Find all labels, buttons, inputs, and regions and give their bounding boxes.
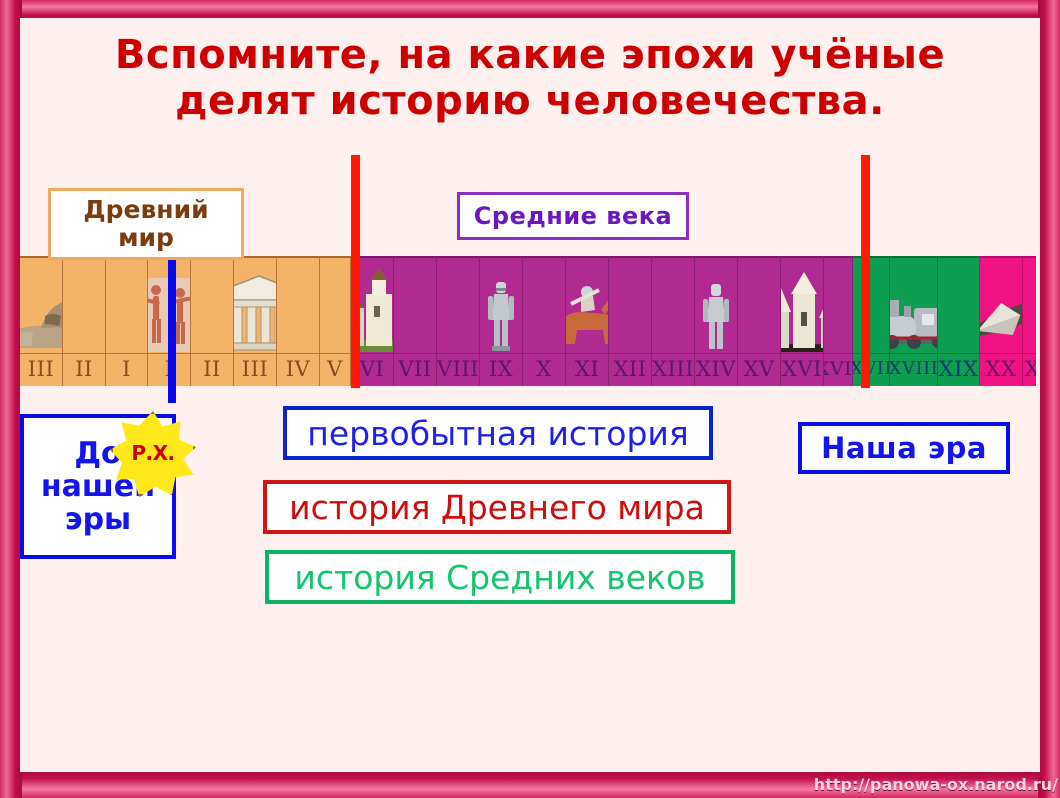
timeline-cell: XIII <box>652 256 695 386</box>
frame-left-band <box>0 0 22 798</box>
timeline-cell: VII <box>394 256 437 386</box>
sphinx-icon <box>20 286 63 352</box>
legend-ancient-history[interactable]: история Древнего мира <box>263 480 731 534</box>
timeline-segment-newest-time: XX XXI <box>980 256 1036 386</box>
star-badge-label: Р.Х. <box>110 411 196 497</box>
timeline-cell: XIX <box>938 256 980 386</box>
timeline-cell: I <box>106 256 148 386</box>
legend-middle-ages-history[interactable]: история Средних веков <box>265 550 735 604</box>
timeline-cell: XVI <box>781 256 824 386</box>
label-ancient-world[interactable]: Древний мир <box>48 188 244 260</box>
timeline-segment-ancient-bc: III II I <box>20 256 148 386</box>
greek-temple-icon <box>234 274 277 352</box>
timeline-cell: IV <box>277 256 320 386</box>
century-numeral: XV <box>743 354 774 386</box>
slide-root: Вспомните, на какие эпохи учёные делят и… <box>0 0 1060 798</box>
timeline-cell: XI <box>566 256 609 386</box>
label-bc-line-3: эры <box>65 502 131 537</box>
century-numeral: VI <box>360 354 384 386</box>
cathedral-icon <box>781 272 824 352</box>
birth-of-christ-badge[interactable]: Р.Х. <box>110 411 196 497</box>
title-line-2: делят историю человечества. <box>20 78 1040 124</box>
century-numeral: XIV <box>696 354 736 386</box>
frame-top-band <box>0 0 1060 20</box>
century-numeral: II <box>203 354 221 386</box>
knight-armour-icon <box>701 282 731 352</box>
century-numeral: I <box>122 354 131 386</box>
timeline-cell: II <box>63 256 106 386</box>
timeline-segment-middle-ages: VI VII VIII <box>351 256 853 386</box>
slide-canvas: Вспомните, на какие эпохи учёные делят и… <box>20 18 1040 772</box>
century-numeral: XVII <box>853 354 890 386</box>
timeline-cell: VIII <box>437 256 480 386</box>
timeline-cell: XVIII <box>890 256 938 386</box>
timeline-segment-ancient-ad: I II <box>148 256 351 386</box>
century-numeral: II <box>75 354 93 386</box>
century-numeral: IV <box>286 354 310 386</box>
century-numeral: X <box>536 354 551 386</box>
page-title: Вспомните, на какие эпохи учёные делят и… <box>20 32 1040 125</box>
timeline-cell: V <box>320 256 351 386</box>
label-our-era[interactable]: Наша эра <box>798 422 1010 474</box>
century-numeral: XI <box>575 354 599 386</box>
source-watermark: http://panowa-ox.narod.ru/ <box>814 775 1058 794</box>
timeline-cell: III <box>20 256 63 386</box>
frame-right-band <box>1038 0 1060 798</box>
century-numeral: XVIII <box>890 354 938 386</box>
timeline-cell: XIV <box>695 256 738 386</box>
label-ancient-world-line-1: Древний <box>83 195 208 224</box>
century-numeral: III <box>242 354 268 386</box>
timeline-cell: XVII <box>853 256 890 386</box>
century-numeral: XII <box>613 354 646 386</box>
century-numeral: IX <box>489 354 513 386</box>
timeline-cell: XXI <box>1023 256 1036 386</box>
timeline-cell: II <box>191 256 234 386</box>
century-numeral: XX <box>986 354 1017 386</box>
era-divider-line-middle-new <box>861 155 870 388</box>
century-numeral: V <box>327 354 343 386</box>
timeline-segment-new-time: XVII <box>853 256 980 386</box>
century-numeral: VIII <box>437 354 479 386</box>
timeline-cell: XX <box>980 256 1023 386</box>
century-numeral: III <box>28 354 54 386</box>
timeline-cell: XVII <box>824 256 853 386</box>
knight-on-horse-icon <box>566 282 609 352</box>
century-numeral: XIX <box>939 354 979 386</box>
steam-locomotive-icon <box>890 288 938 352</box>
timeline-cell: XII <box>609 256 652 386</box>
century-numeral: VII <box>398 354 431 386</box>
century-numeral: XVII <box>824 354 853 386</box>
label-ancient-world-line-2: мир <box>118 223 174 252</box>
space-shuttle-icon <box>980 286 1023 352</box>
timeline-cell: III <box>234 256 277 386</box>
era-divider-line-ancient-middle <box>351 155 360 388</box>
knight-icon <box>485 280 517 352</box>
century-numeral: XIII <box>652 354 694 386</box>
legend-prehistory[interactable]: первобытная история <box>283 406 713 460</box>
century-numeral: XVI <box>782 354 822 386</box>
century-numeral: XXI <box>1025 354 1036 386</box>
timeline-cell: IX <box>480 256 523 386</box>
timeline-cell: X <box>523 256 566 386</box>
label-middle-ages[interactable]: Средние века <box>457 192 689 240</box>
timeline-cell: XV <box>738 256 781 386</box>
title-line-1: Вспомните, на какие эпохи учёные <box>20 32 1040 78</box>
